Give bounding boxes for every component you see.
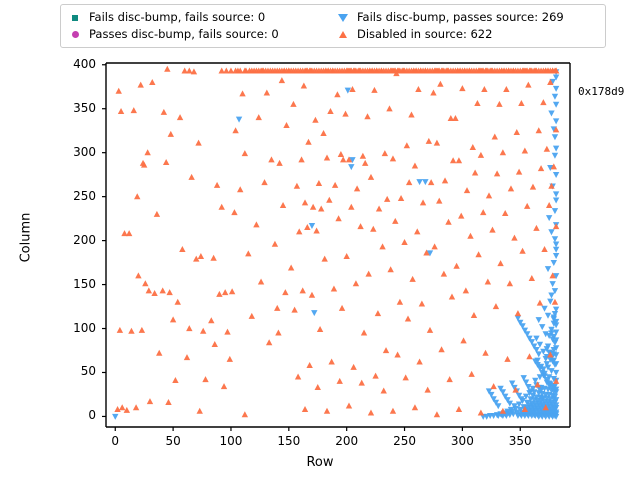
data-point [264,89,270,95]
data-point [186,68,192,74]
data-point [340,156,346,162]
data-point [493,303,499,309]
data-point [309,292,315,298]
y-tick-label: 400 [56,57,96,71]
data-point [309,223,315,229]
data-point [475,251,481,257]
x-tick-label: 350 [500,434,540,448]
data-point [402,374,408,380]
data-point [502,210,508,216]
data-point [553,198,559,204]
data-point [468,371,474,377]
data-point [272,241,278,247]
data-point [163,159,169,165]
data-point [404,142,410,148]
data-point [179,246,185,252]
data-point [242,411,248,417]
plot-annotation: 0x178d9 [578,85,624,98]
data-point [415,86,421,92]
data-point [460,337,466,343]
data-point [390,155,396,161]
data-point [450,157,456,163]
y-tick-label: 100 [56,321,96,335]
data-point [452,115,458,121]
data-point [331,286,337,292]
data-point [147,398,153,404]
data-point [186,325,192,331]
data-point [390,408,396,414]
data-point [288,264,294,270]
data-point [365,271,371,277]
data-point [552,208,558,214]
x-tick-label: 100 [211,434,251,448]
data-point [467,233,473,239]
data-point [266,339,272,345]
data-point [386,105,392,111]
data-point [128,328,134,334]
data-point [518,100,524,106]
data-point [116,88,122,94]
data-point [553,86,559,92]
data-point [317,326,323,332]
data-point [431,243,437,249]
data-point [552,153,558,159]
data-point [504,356,510,362]
data-point [302,406,308,412]
data-point [146,287,152,293]
data-point [508,185,514,191]
data-point [138,82,144,88]
data-point [384,196,390,202]
data-point [541,306,547,312]
data-point [135,272,141,278]
data-point [350,364,356,370]
data-point [464,187,470,193]
data-point [381,388,387,394]
data-point [280,202,286,208]
data-point [422,179,428,185]
data-point [348,164,354,170]
data-point [379,243,385,249]
data-point [552,236,558,242]
data-point [514,129,520,135]
data-point [316,180,322,186]
data-point [553,146,559,152]
data-point [525,82,531,88]
data-point [392,218,398,224]
y-tick-label: 50 [56,364,96,378]
data-point [231,209,237,215]
data-point [449,293,455,299]
data-point [216,291,222,297]
data-point [302,199,308,205]
data-point [408,111,414,117]
data-point [335,215,341,221]
data-point [239,90,245,96]
data-point [497,260,503,266]
data-point [161,109,167,115]
data-point [222,289,228,295]
data-point [212,341,218,347]
data-point [164,66,170,72]
data-point [184,354,190,360]
data-point [472,170,478,176]
data-point [549,281,555,287]
data-point [519,248,525,254]
data-point [553,253,559,259]
data-point [536,127,542,133]
data-point [540,99,546,105]
data-point [117,327,123,333]
data-point [533,336,539,342]
data-point [301,82,307,88]
data-point [398,195,404,201]
data-point [368,174,374,180]
data-point [409,276,415,282]
data-point [214,182,220,188]
data-point [324,155,330,161]
data-point [291,307,297,313]
data-point [553,118,559,124]
y-tick-label: 350 [56,101,96,115]
data-point [530,184,536,190]
data-point [236,117,242,123]
data-point [337,378,343,384]
data-point [283,122,289,128]
data-point [536,317,542,323]
data-point [208,317,214,323]
data-point [139,327,145,333]
scatter-series-3 [114,66,559,418]
data-point [315,384,321,390]
data-point [210,255,216,261]
data-point [492,133,498,139]
data-point [298,156,304,162]
data-point [131,107,137,113]
data-point [552,134,558,140]
data-point [177,114,183,120]
data-point [372,373,378,379]
data-point [227,356,233,362]
data-point [279,77,285,83]
data-point [172,377,178,383]
data-point [552,94,558,100]
y-axis-label: Column [19,188,34,288]
data-point [546,215,552,221]
data-point [551,260,557,266]
data-point [401,239,407,245]
data-point [219,204,225,210]
data-point [368,410,374,416]
scatter-series-2 [112,69,559,420]
data-point [453,263,459,269]
data-point [412,404,418,410]
data-point [324,408,330,414]
data-point [545,313,551,319]
scatter-plot [0,0,640,480]
data-point [290,101,296,107]
data-point [276,160,282,166]
data-point [311,310,317,316]
data-point [516,169,522,175]
data-point [253,221,259,227]
data-point [294,183,300,189]
data-point [242,150,248,156]
data-point [383,347,389,353]
data-point [485,279,491,285]
data-point [375,310,381,316]
data-point [553,242,559,248]
data-point [245,250,251,256]
x-tick-label: 150 [269,434,309,448]
data-point [537,300,543,306]
data-point [430,89,436,95]
data-point [459,85,465,91]
data-point [360,153,366,159]
data-point [471,312,477,318]
data-point [168,131,174,137]
data-point [134,193,140,199]
data-point [442,177,448,183]
data-point [416,359,422,365]
data-point [481,86,487,92]
data-point [327,108,333,114]
data-point [553,223,559,229]
data-point [371,87,377,93]
data-point [548,229,554,235]
data-point [354,185,360,191]
data-point [436,198,442,204]
data-point [553,191,559,197]
data-point [140,160,146,166]
scatter-marker-layer [112,66,559,420]
data-point [268,156,274,162]
data-point [490,383,496,389]
data-point [343,253,349,259]
data-point [332,182,338,188]
data-point [249,313,255,319]
data-point [394,352,400,358]
data-point [202,376,208,382]
x-tick-label: 250 [385,434,425,448]
data-point [426,138,432,144]
data-point [434,411,440,417]
data-point [507,280,513,286]
data-point [328,359,334,365]
data-point [427,327,433,333]
figure-canvas: Fails disc-bump, fails source: 0 Fails d… [0,0,640,480]
data-point [154,211,160,217]
data-point [232,127,238,133]
data-point [361,330,367,336]
data-point [397,299,403,305]
data-point [428,179,434,185]
data-point [159,287,165,293]
data-point [538,165,544,171]
data-point [221,383,227,389]
data-point [275,330,281,336]
data-point [362,160,368,166]
data-point [237,186,243,192]
x-tick-label: 300 [442,434,482,448]
data-point [149,79,155,85]
data-point [119,404,125,410]
data-point [419,301,425,307]
data-point [420,199,426,205]
data-point [304,224,310,230]
data-point [478,410,484,416]
data-point [539,324,545,330]
data-point [156,350,162,356]
data-point [370,226,376,232]
data-point [458,213,464,219]
data-point [522,148,528,154]
data-point [353,280,359,286]
data-point [142,280,148,286]
data-point [456,157,462,163]
data-point [326,197,332,203]
data-point [456,406,462,412]
data-point [224,329,230,335]
data-point [338,151,344,157]
data-point [500,149,506,155]
data-point [503,86,509,92]
data-point [197,408,203,414]
x-axis-label: Row [0,455,640,470]
data-point [438,346,444,352]
data-point [474,100,480,106]
data-point [320,130,326,136]
x-tick-label: 0 [95,434,135,448]
data-point [548,293,554,299]
data-point [195,140,201,146]
data-point [346,402,352,408]
data-point [305,139,311,145]
data-point [511,235,517,241]
data-point [434,140,440,146]
data-point [496,101,502,107]
data-point [296,228,302,234]
data-point [313,228,319,234]
y-tick-label: 300 [56,145,96,159]
data-point [310,204,316,210]
data-point [188,174,194,180]
data-point [144,149,150,155]
data-point [494,170,500,176]
data-point [526,353,532,359]
data-point [261,179,267,185]
data-point [318,206,324,212]
data-point [118,108,124,114]
data-point [126,230,132,236]
data-point [524,203,530,209]
data-point [424,387,430,393]
data-point [334,91,340,97]
y-tick-label: 150 [56,277,96,291]
data-point [306,362,312,368]
data-point [546,202,552,208]
data-point [342,111,348,117]
data-point [256,114,262,120]
data-point [463,287,469,293]
data-point [357,223,363,229]
data-point [274,305,280,311]
data-point [416,179,422,185]
data-point [553,370,559,376]
data-point [445,219,451,225]
data-point [376,206,382,212]
data-point [537,342,543,348]
data-point [544,146,550,152]
data-point [151,290,157,296]
x-tick-label: 50 [153,434,193,448]
data-point [541,246,547,252]
y-tick-label: 250 [56,189,96,203]
data-point [480,209,486,215]
data-point [321,256,327,262]
data-point [489,227,495,233]
data-point [553,172,559,178]
data-point [200,328,206,334]
data-point [533,225,539,231]
data-point [312,117,318,123]
data-point [348,204,354,210]
data-point [300,287,306,293]
data-point [229,288,235,294]
data-point [166,289,172,295]
data-point [339,305,345,311]
data-point [112,414,118,420]
data-point [382,150,388,156]
data-point [553,247,559,253]
data-point [482,350,488,356]
data-point [412,162,418,168]
data-point [553,102,559,108]
data-point [405,315,411,321]
data-point [364,113,370,119]
data-point [387,266,393,272]
data-point [406,179,412,185]
data-point [282,289,288,295]
data-point [437,81,443,87]
data-point [478,152,484,158]
data-point [545,266,551,272]
data-point [441,271,447,277]
data-point [548,111,554,117]
data-point [198,253,204,259]
data-point [414,228,420,234]
data-point [486,192,492,198]
data-point [165,399,171,405]
data-point [359,380,365,386]
data-point [175,299,181,305]
data-point [170,316,176,322]
data-point [133,404,139,410]
data-point [446,376,452,382]
data-point [258,279,264,285]
data-point [529,275,535,281]
y-tick-label: 0 [56,408,96,422]
data-point [295,373,301,379]
plot-axes [102,63,570,431]
data-point [470,144,476,150]
data-point [515,310,521,316]
x-tick-label: 200 [327,434,367,448]
y-tick-label: 200 [56,233,96,247]
